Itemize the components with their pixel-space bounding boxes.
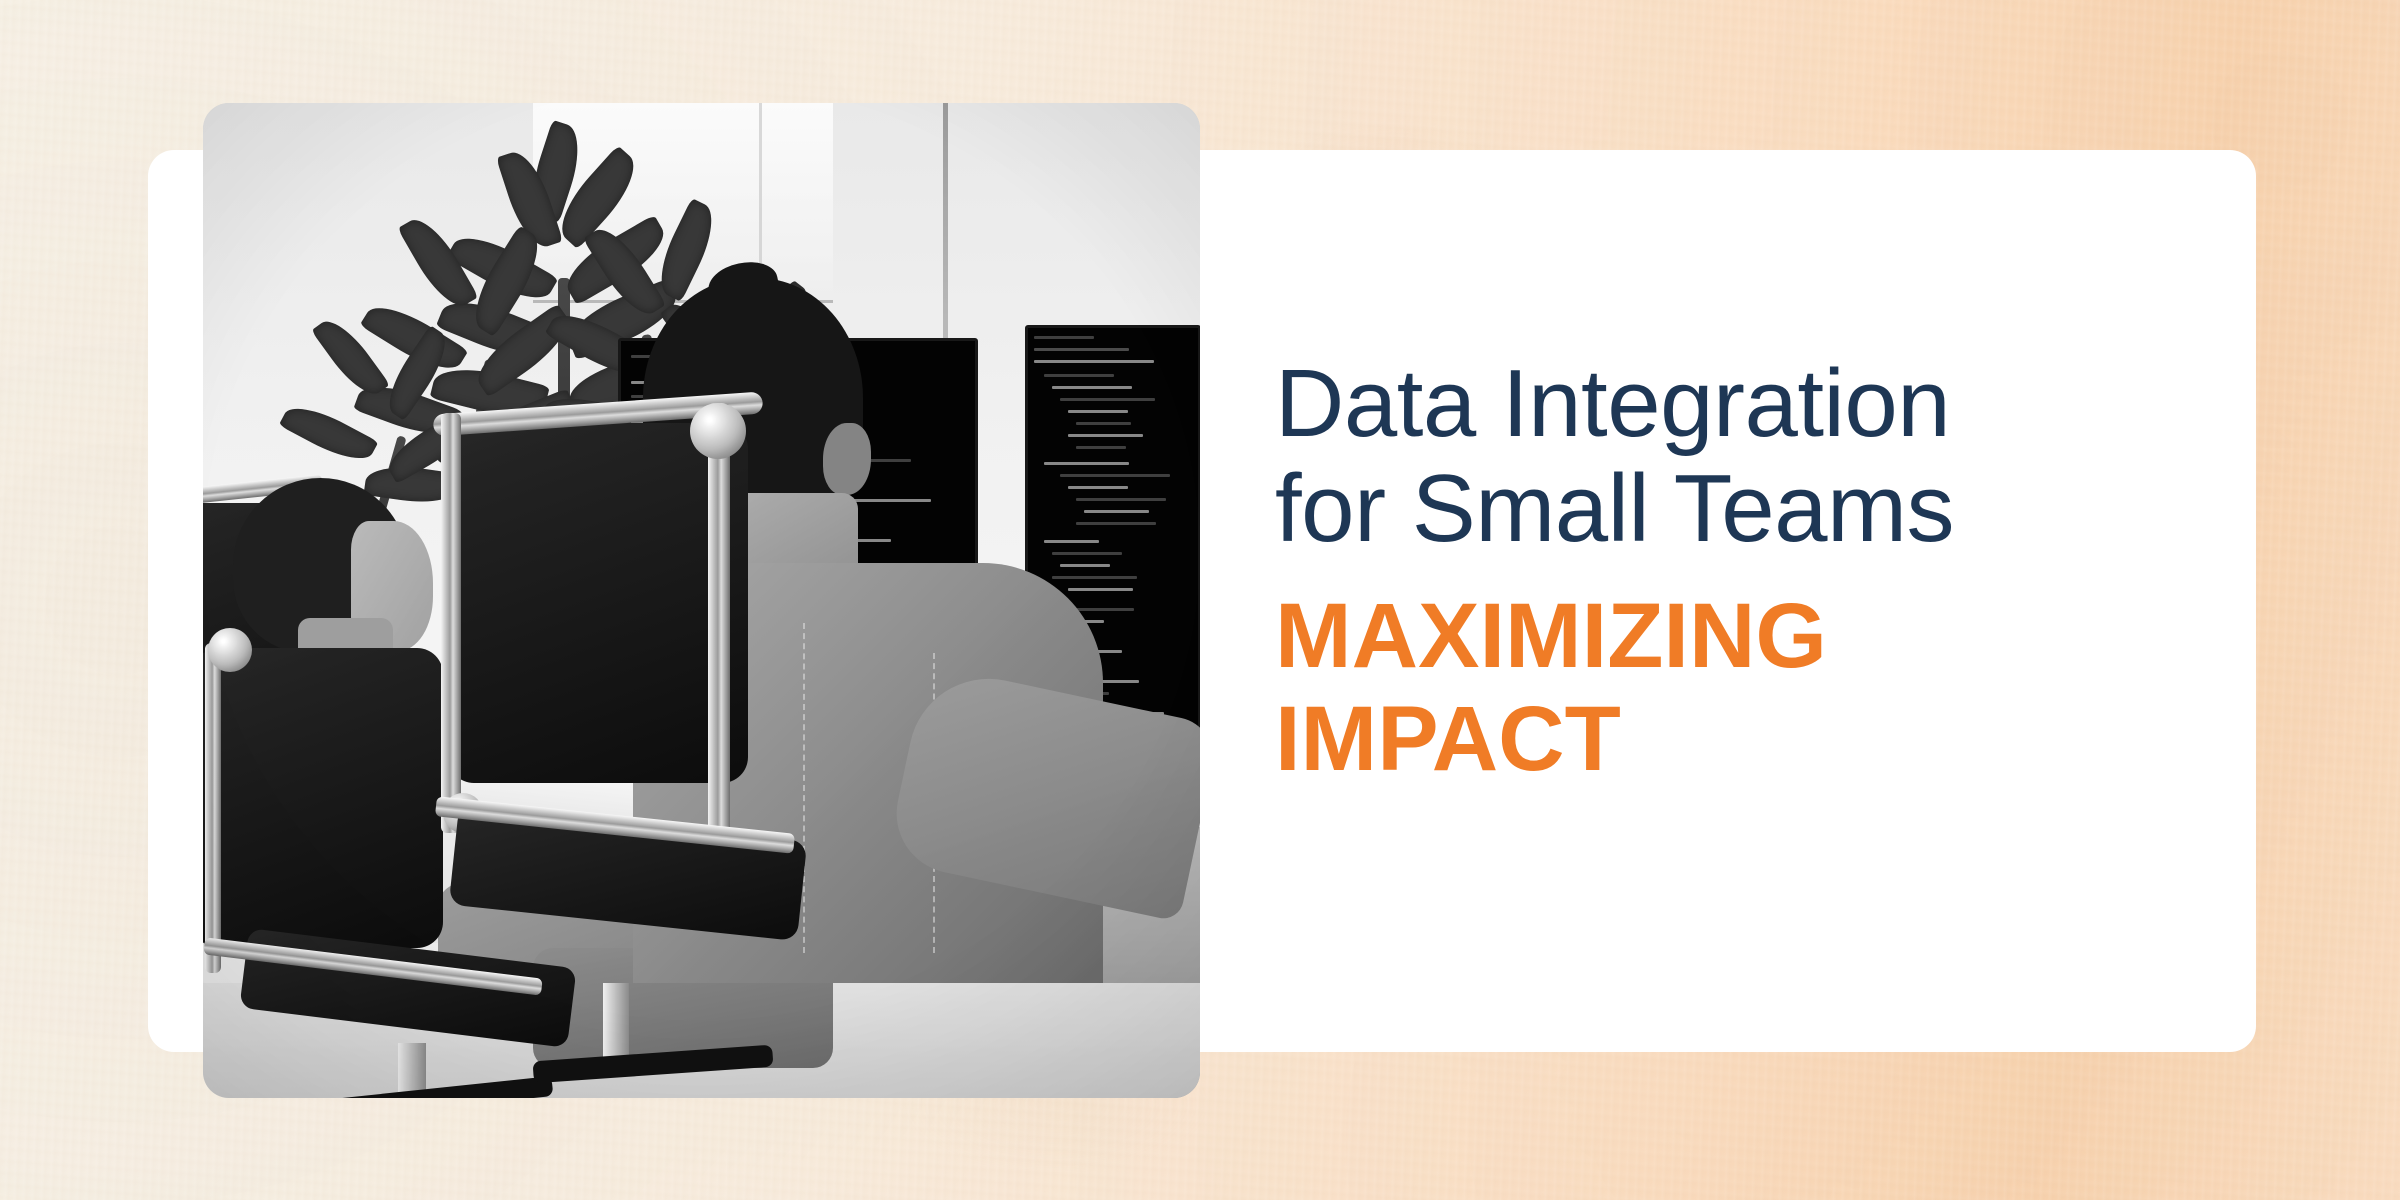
- subheadline-line-2: IMPACT: [1275, 690, 2195, 788]
- headline-line-1: Data Integration: [1275, 352, 2195, 457]
- headline-line-2: for Small Teams: [1275, 457, 2195, 562]
- poster-canvas: Data Integration for Small Teams MAXIMIZ…: [0, 0, 2400, 1200]
- office-chair-center-backrest: [448, 423, 748, 783]
- chair-center-frame-right: [708, 403, 730, 843]
- chair-left-frame-vertical: [205, 643, 221, 973]
- person-2-ear: [823, 423, 871, 495]
- chair-center-frame-left: [441, 413, 461, 833]
- chair-center-gas-post: [603, 983, 629, 1063]
- text-block: Data Integration for Small Teams MAXIMIZ…: [1275, 352, 2195, 788]
- subheadline-line-1: MAXIMIZING: [1275, 587, 2195, 685]
- chair-center-pivot-knob: [690, 403, 746, 459]
- chair-left-pivot-knob: [208, 628, 252, 672]
- hero-photo: [203, 103, 1200, 1098]
- office-chair-left-backrest: [203, 648, 443, 948]
